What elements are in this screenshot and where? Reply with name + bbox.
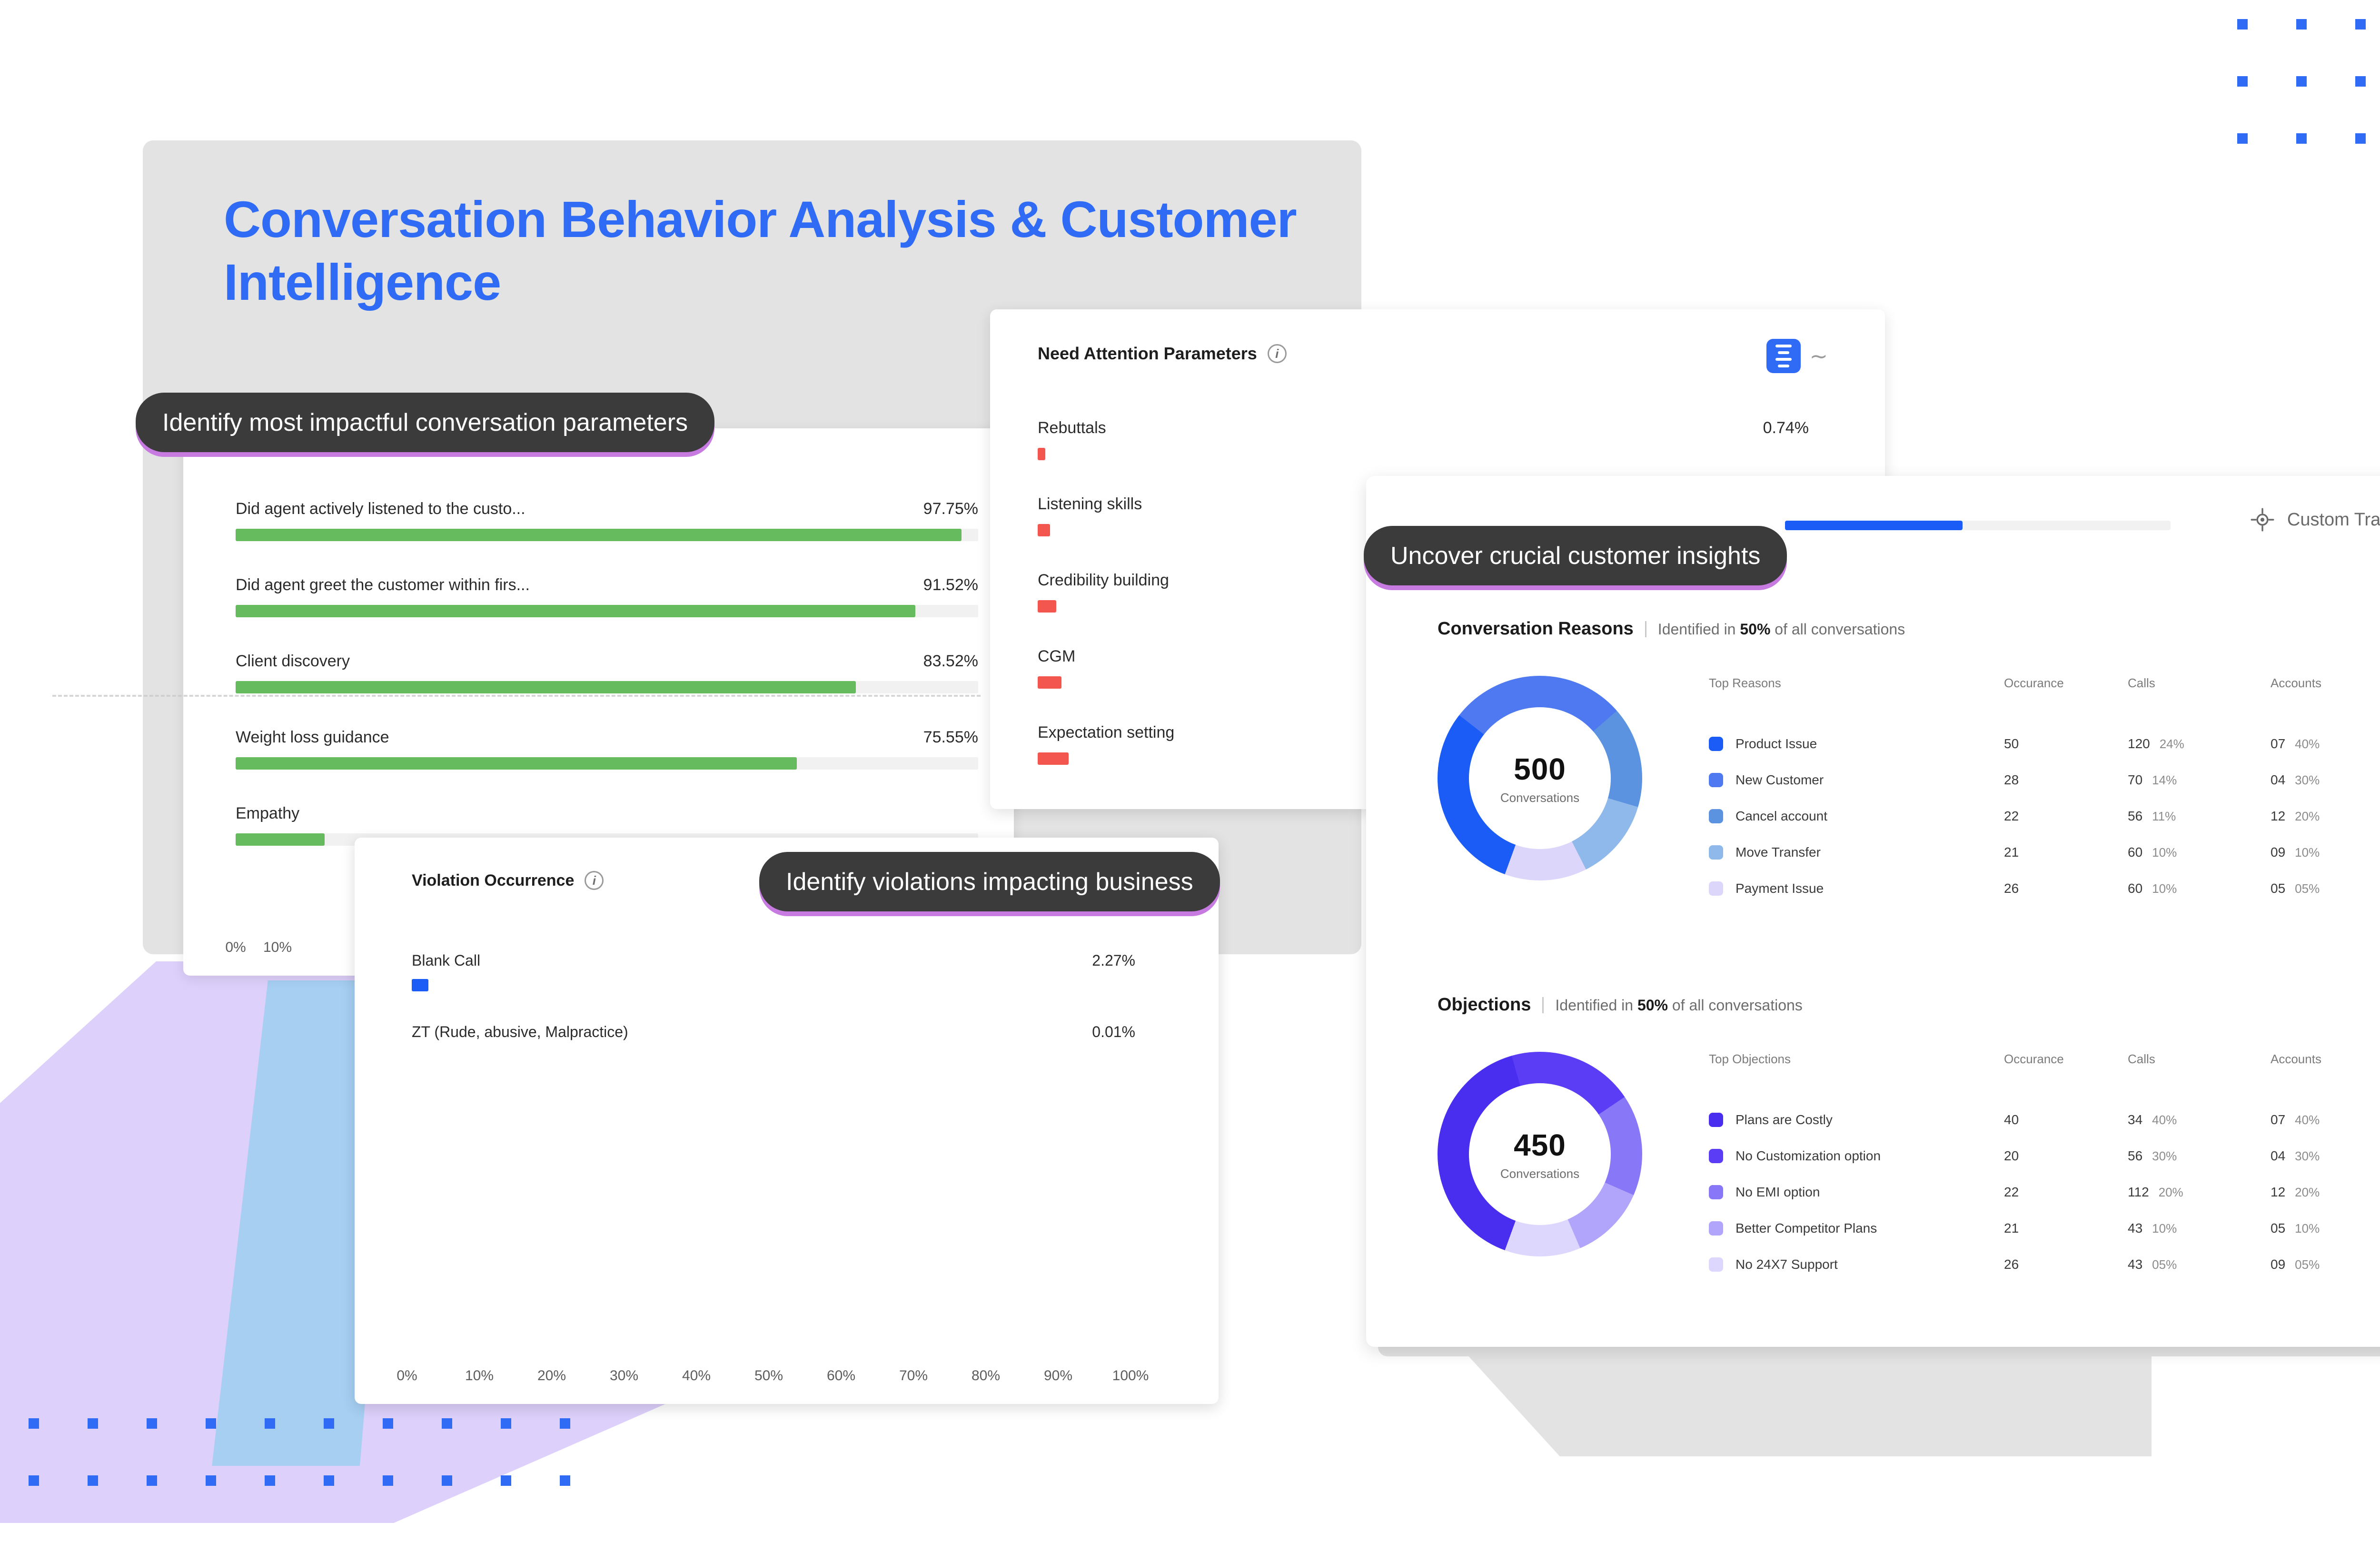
parameter-value: 97.75% bbox=[923, 500, 978, 518]
decorative-dot bbox=[383, 1475, 393, 1486]
calls-value: 120 bbox=[2128, 736, 2150, 751]
row-name-cell: No 24X7 Support bbox=[1709, 1246, 2004, 1283]
parameter-label: Client discovery bbox=[236, 652, 978, 671]
row-label: No EMI option bbox=[1735, 1185, 1820, 1200]
violation-value: 2.27% bbox=[1092, 952, 1135, 969]
table-row[interactable]: New Customer287014%0430%View bbox=[1709, 762, 2380, 798]
calls-value: 60 bbox=[2128, 881, 2142, 896]
attention-bar bbox=[1038, 448, 1045, 460]
violation-row: Blank Call2.27% bbox=[412, 952, 1135, 991]
info-icon[interactable]: i bbox=[585, 871, 604, 890]
row-name-cell: Product Issue bbox=[1709, 726, 2004, 762]
calls-percent: 10% bbox=[2152, 881, 2177, 896]
table-header-row: Top ObjectionsOccuranceCallsAccountsSnip… bbox=[1709, 1052, 2380, 1102]
row-name-cell: Plans are Costly bbox=[1709, 1102, 2004, 1138]
section-subtitle: Identified in 50% of all conversations bbox=[1555, 997, 1802, 1014]
calls-percent: 11% bbox=[2152, 809, 2176, 823]
calls-value: 43 bbox=[2128, 1257, 2142, 1272]
accounts-cell: 0740% bbox=[2271, 1102, 2380, 1138]
info-icon[interactable]: i bbox=[1268, 344, 1287, 363]
table-row[interactable]: Plans are Costly403440%0740%View bbox=[1709, 1102, 2380, 1138]
attention-bar bbox=[1038, 752, 1069, 765]
accounts-cell: 0430% bbox=[2271, 1138, 2380, 1174]
calls-cell: 5630% bbox=[2128, 1138, 2271, 1174]
parameter-row: Client discovery83.52% bbox=[236, 652, 978, 693]
pill-identify-parameters[interactable]: Identify most impactful conversation par… bbox=[136, 393, 714, 452]
column-header: Occurance bbox=[2004, 676, 2128, 726]
violation-row: ZT (Rude, abusive, Malpractice)0.01% bbox=[412, 1023, 1135, 1041]
occurance-cell: 26 bbox=[2004, 870, 2128, 907]
accounts-percent: 40% bbox=[2295, 1113, 2320, 1127]
progress-fill bbox=[1785, 521, 1963, 530]
calls-value: 112 bbox=[2128, 1185, 2149, 1199]
parameter-label: Empathy bbox=[236, 804, 978, 823]
decorative-dot bbox=[2355, 76, 2366, 87]
decorative-dot bbox=[2237, 19, 2248, 30]
table-row[interactable]: No 24X7 Support264305%0905%View bbox=[1709, 1246, 2380, 1283]
pill-label: Identify violations impacting business bbox=[786, 868, 1193, 896]
parameter-fill bbox=[236, 605, 915, 617]
legend-swatch bbox=[1709, 1185, 1723, 1199]
section-title: Conversation Reasons bbox=[1438, 619, 1634, 639]
parameter-track bbox=[236, 529, 978, 541]
calls-percent: 10% bbox=[2152, 845, 2177, 860]
parameter-value: 75.55% bbox=[923, 728, 978, 747]
violation-label: ZT (Rude, abusive, Malpractice) bbox=[412, 1023, 1135, 1041]
table-row[interactable]: Payment Issue266010%0505%View bbox=[1709, 870, 2380, 907]
accounts-cell: 0905% bbox=[2271, 1246, 2380, 1283]
insight-table: Top ReasonsOccuranceCallsAccountsSnippet… bbox=[1709, 676, 2380, 907]
row-name-cell: No Customization option bbox=[1709, 1138, 2004, 1174]
legend-swatch bbox=[1709, 773, 1723, 787]
dashed-separator bbox=[52, 695, 981, 697]
custom-tracking-label: Custom Tracking bbox=[2287, 510, 2380, 530]
legend-swatch bbox=[1709, 1221, 1723, 1236]
parameter-track bbox=[236, 681, 978, 693]
violation-label: Blank Call bbox=[412, 952, 1135, 969]
accounts-cell: 1220% bbox=[2271, 1174, 2380, 1210]
section-subtitle: Identified in 50% of all conversations bbox=[1658, 621, 1905, 638]
row-name-cell: Cancel account bbox=[1709, 798, 2004, 834]
column-header: Accounts bbox=[2271, 1052, 2380, 1102]
table-header-row: Top ReasonsOccuranceCallsAccountsSnippet… bbox=[1709, 676, 2380, 726]
divider bbox=[1645, 621, 1646, 637]
accounts-value: 05 bbox=[2271, 881, 2285, 896]
decorative-dot bbox=[2296, 76, 2307, 87]
donut-chart: 500Conversations bbox=[1438, 676, 1642, 880]
decorative-dot bbox=[442, 1475, 452, 1486]
calls-percent: 40% bbox=[2152, 1113, 2177, 1127]
row-label: Payment Issue bbox=[1735, 881, 1824, 896]
parameter-value: 83.52% bbox=[923, 652, 978, 671]
accounts-cell: 0430% bbox=[2271, 762, 2380, 798]
violation-title: Violation Occurrence bbox=[412, 871, 574, 890]
decorative-dot bbox=[501, 1475, 511, 1486]
legend-swatch bbox=[1709, 737, 1723, 751]
row-name-cell: No EMI option bbox=[1709, 1174, 2004, 1210]
axis-tick: 60% bbox=[827, 1368, 855, 1384]
accounts-value: 12 bbox=[2271, 1185, 2285, 1199]
row-label: Better Competitor Plans bbox=[1735, 1221, 1877, 1236]
decorative-dot bbox=[560, 1475, 570, 1486]
pill-label: Identify most impactful conversation par… bbox=[162, 408, 688, 437]
calls-percent: 24% bbox=[2160, 737, 2184, 751]
row-label: No 24X7 Support bbox=[1735, 1257, 1838, 1272]
decorative-dot bbox=[88, 1418, 98, 1429]
parameter-fill bbox=[236, 681, 856, 693]
occurance-cell: 21 bbox=[2004, 1210, 2128, 1246]
accounts-percent: 05% bbox=[2295, 881, 2320, 896]
row-name-cell: New Customer bbox=[1709, 762, 2004, 798]
calls-value: 56 bbox=[2128, 809, 2142, 823]
decorative-dot-grid-top bbox=[2237, 19, 2380, 190]
axis-tick: 0% bbox=[397, 1368, 417, 1384]
decorative-dot bbox=[2237, 76, 2248, 87]
decorative-dot bbox=[265, 1475, 275, 1486]
calls-cell: 4305% bbox=[2128, 1246, 2271, 1283]
decorative-dot bbox=[206, 1475, 216, 1486]
accounts-percent: 10% bbox=[2295, 1221, 2320, 1236]
legend-swatch bbox=[1709, 1257, 1723, 1272]
accounts-percent: 40% bbox=[2295, 737, 2320, 751]
insight-table: Top ObjectionsOccuranceCallsAccountsSnip… bbox=[1709, 1052, 2380, 1283]
axis-tick: 50% bbox=[754, 1368, 783, 1384]
accounts-percent: 20% bbox=[2295, 1185, 2320, 1199]
parameter-row: Did agent greet the customer within firs… bbox=[236, 576, 978, 617]
accounts-cell: 0740% bbox=[2271, 726, 2380, 762]
occurance-cell: 21 bbox=[2004, 834, 2128, 870]
accounts-cell: 0510% bbox=[2271, 1210, 2380, 1246]
pill-label: Uncover crucial customer insights bbox=[1390, 542, 1760, 570]
decorative-dot bbox=[2296, 133, 2307, 144]
page-stage: Conversation Behavior Analysis & Custome… bbox=[0, 0, 2380, 1542]
violation-x-axis: 0%10%20%30%40%50%60%70%80%90%100% bbox=[407, 1368, 1150, 1387]
donut-caption: Conversations bbox=[1500, 791, 1579, 805]
calls-cell: 5611% bbox=[2128, 798, 2271, 834]
section-header: Conversation ReasonsIdentified in 50% of… bbox=[1438, 619, 1905, 639]
calls-percent: 10% bbox=[2152, 1221, 2177, 1236]
parameter-value: 91.52% bbox=[923, 576, 978, 594]
axis-tick: 40% bbox=[682, 1368, 711, 1384]
axis-tick: 90% bbox=[1044, 1368, 1072, 1384]
calls-value: 56 bbox=[2128, 1148, 2142, 1163]
row-label: Cancel account bbox=[1735, 809, 1827, 824]
calls-value: 43 bbox=[2128, 1221, 2142, 1236]
wave-chart-icon[interactable]: ∼ bbox=[1809, 345, 1828, 367]
target-icon bbox=[2250, 507, 2275, 532]
accounts-percent: 30% bbox=[2295, 1149, 2320, 1163]
legend-swatch bbox=[1709, 1149, 1723, 1163]
decorative-dot bbox=[442, 1418, 452, 1429]
parameter-label: Did agent greet the customer within firs… bbox=[236, 576, 978, 594]
decorative-dot bbox=[147, 1418, 157, 1429]
attention-bar bbox=[1038, 676, 1061, 689]
occurance-cell: 22 bbox=[2004, 1174, 2128, 1210]
accounts-percent: 30% bbox=[2295, 773, 2320, 787]
row-label: Move Transfer bbox=[1735, 845, 1821, 860]
accounts-percent: 10% bbox=[2295, 845, 2320, 860]
calls-percent: 30% bbox=[2152, 1149, 2177, 1163]
parameter-label: Weight loss guidance bbox=[236, 728, 978, 747]
violation-occurrence-card: Violation Occurrence i Blank Call2.27%ZT… bbox=[355, 838, 1219, 1404]
attention-label: Rebuttals bbox=[1038, 419, 1809, 437]
decorative-dot bbox=[265, 1418, 275, 1429]
accounts-value: 09 bbox=[2271, 1257, 2285, 1272]
need-attention-header: Need Attention Parameters i bbox=[1038, 344, 1287, 364]
legend-swatch bbox=[1709, 809, 1723, 823]
occurance-cell: 28 bbox=[2004, 762, 2128, 798]
donut-caption: Conversations bbox=[1500, 1166, 1579, 1181]
decorative-dot bbox=[29, 1475, 39, 1486]
axis-tick: 80% bbox=[972, 1368, 1000, 1384]
donut-total: 450 bbox=[1514, 1127, 1566, 1163]
row-name-cell: Move Transfer bbox=[1709, 834, 2004, 870]
accounts-value: 09 bbox=[2271, 845, 2285, 860]
section-header: ObjectionsIdentified in 50% of all conve… bbox=[1438, 995, 1803, 1015]
column-header: Calls bbox=[2128, 676, 2271, 726]
view-toggle-group[interactable]: ∼ bbox=[1766, 339, 1828, 373]
decorative-dot bbox=[2355, 19, 2366, 30]
need-attention-title: Need Attention Parameters bbox=[1038, 344, 1257, 364]
accounts-cell: 0505% bbox=[2271, 870, 2380, 907]
decorative-dot-grid-bottom bbox=[29, 1418, 619, 1532]
accounts-cell: 1220% bbox=[2271, 798, 2380, 834]
pill-uncover-insights[interactable]: Uncover crucial customer insights bbox=[1364, 526, 1787, 585]
divider bbox=[1542, 997, 1544, 1013]
accounts-value: 07 bbox=[2271, 1112, 2285, 1127]
axis-tick: 0% bbox=[225, 939, 246, 956]
pill-identify-violations[interactable]: Identify violations impacting business bbox=[759, 852, 1220, 911]
decorative-dot bbox=[560, 1418, 570, 1429]
decorative-dot bbox=[206, 1418, 216, 1429]
calls-cell: 6010% bbox=[2128, 834, 2271, 870]
progress-track bbox=[1785, 521, 2171, 530]
decorative-dot bbox=[88, 1475, 98, 1486]
donut-center: 500Conversations bbox=[1438, 676, 1642, 880]
column-header: Top Reasons bbox=[1709, 676, 2004, 726]
section-title: Objections bbox=[1438, 995, 1531, 1015]
violation-value: 0.01% bbox=[1092, 1023, 1135, 1041]
calls-cell: 3440% bbox=[2128, 1102, 2271, 1138]
row-name-cell: Payment Issue bbox=[1709, 870, 2004, 907]
row-label: Product Issue bbox=[1735, 736, 1817, 751]
accounts-percent: 20% bbox=[2295, 809, 2320, 823]
row-name-cell: Better Competitor Plans bbox=[1709, 1210, 2004, 1246]
table-row[interactable]: No Customization option205630%0430%View bbox=[1709, 1138, 2380, 1174]
table-row[interactable]: Move Transfer216010%0910%View bbox=[1709, 834, 2380, 870]
attention-value: 0.74% bbox=[1763, 419, 1809, 437]
parameter-fill bbox=[236, 529, 962, 541]
decorative-dot bbox=[2296, 19, 2307, 30]
decorative-dot bbox=[324, 1418, 334, 1429]
accounts-value: 07 bbox=[2271, 736, 2285, 751]
occurance-cell: 20 bbox=[2004, 1138, 2128, 1174]
column-header: Occurance bbox=[2004, 1052, 2128, 1102]
accounts-percent: 05% bbox=[2295, 1257, 2320, 1272]
row-label: Plans are Costly bbox=[1735, 1112, 1833, 1127]
column-header: Top Objections bbox=[1709, 1052, 2004, 1102]
parameter-row: Weight loss guidance75.55% bbox=[236, 728, 978, 770]
accounts-value: 12 bbox=[2271, 809, 2285, 823]
accounts-value: 04 bbox=[2271, 1148, 2285, 1163]
donut-center: 450Conversations bbox=[1438, 1052, 1642, 1256]
parameter-track bbox=[236, 757, 978, 770]
column-header: Calls bbox=[2128, 1052, 2271, 1102]
violation-bar bbox=[412, 979, 428, 991]
donut-total: 500 bbox=[1514, 751, 1566, 787]
table-row[interactable]: Product Issue5012024%0740%View bbox=[1709, 726, 2380, 762]
parameter-track bbox=[236, 605, 978, 617]
insight-section-objections: ObjectionsIdentified in 50% of all conve… bbox=[1366, 995, 2380, 1347]
calls-value: 70 bbox=[2128, 772, 2142, 787]
attention-row: Rebuttals0.74% bbox=[1038, 419, 1809, 460]
occurance-cell: 22 bbox=[2004, 798, 2128, 834]
decorative-dot bbox=[2237, 133, 2248, 144]
calls-cell: 11220% bbox=[2128, 1174, 2271, 1210]
calls-value: 60 bbox=[2128, 845, 2142, 860]
decorative-dot bbox=[383, 1418, 393, 1429]
calls-percent: 14% bbox=[2152, 773, 2177, 787]
axis-tick: 20% bbox=[537, 1368, 566, 1384]
table-row[interactable]: Cancel account225611%1220%View bbox=[1709, 798, 2380, 834]
decorative-dot bbox=[2355, 133, 2366, 144]
column-header: Accounts bbox=[2271, 676, 2380, 726]
calls-cell: 4310% bbox=[2128, 1210, 2271, 1246]
attention-bar bbox=[1038, 600, 1056, 613]
list-view-icon[interactable] bbox=[1766, 339, 1801, 373]
calls-value: 34 bbox=[2128, 1112, 2142, 1127]
legend-swatch bbox=[1709, 881, 1723, 896]
parameter-fill bbox=[236, 833, 325, 846]
axis-tick: 30% bbox=[610, 1368, 638, 1384]
violation-header: Violation Occurrence i bbox=[412, 871, 604, 890]
occurance-cell: 26 bbox=[2004, 1246, 2128, 1283]
table-row[interactable]: Better Competitor Plans214310%0510%View bbox=[1709, 1210, 2380, 1246]
table-row[interactable]: No EMI option2211220%1220%View bbox=[1709, 1174, 2380, 1210]
insight-section-conversation-reasons: Conversation ReasonsIdentified in 50% of… bbox=[1366, 619, 2380, 980]
donut-chart: 450Conversations bbox=[1438, 1052, 1642, 1256]
accounts-value: 05 bbox=[2271, 1221, 2285, 1236]
calls-cell: 12024% bbox=[2128, 726, 2271, 762]
custom-tracking-group[interactable]: Custom Tracking bbox=[2250, 507, 2380, 532]
accounts-value: 04 bbox=[2271, 772, 2285, 787]
occurance-cell: 50 bbox=[2004, 726, 2128, 762]
parameter-fill bbox=[236, 757, 797, 770]
axis-tick: 70% bbox=[899, 1368, 928, 1384]
decorative-dot bbox=[501, 1418, 511, 1429]
attention-bar bbox=[1038, 524, 1050, 536]
axis-tick: 10% bbox=[263, 939, 292, 956]
occurance-cell: 40 bbox=[2004, 1102, 2128, 1138]
page-title: Conversation Behavior Analysis & Custome… bbox=[224, 188, 1319, 314]
decorative-dot bbox=[147, 1475, 157, 1486]
legend-swatch bbox=[1709, 1113, 1723, 1127]
calls-cell: 6010% bbox=[2128, 870, 2271, 907]
calls-percent: 20% bbox=[2159, 1185, 2183, 1199]
calls-cell: 7014% bbox=[2128, 762, 2271, 798]
axis-tick: 10% bbox=[465, 1368, 494, 1384]
parameter-row: Did agent actively listened to the custo… bbox=[236, 500, 978, 541]
axis-tick: 100% bbox=[1112, 1368, 1149, 1384]
row-label: No Customization option bbox=[1735, 1148, 1881, 1164]
row-label: New Customer bbox=[1735, 772, 1824, 788]
decorative-dot bbox=[324, 1475, 334, 1486]
parameter-label: Did agent actively listened to the custo… bbox=[236, 500, 978, 518]
customer-insights-card: Custom Tracking Conversation ReasonsIden… bbox=[1366, 476, 2380, 1347]
decorative-dot bbox=[29, 1418, 39, 1429]
legend-swatch bbox=[1709, 845, 1723, 860]
calls-percent: 05% bbox=[2152, 1257, 2177, 1272]
accounts-cell: 0910% bbox=[2271, 834, 2380, 870]
